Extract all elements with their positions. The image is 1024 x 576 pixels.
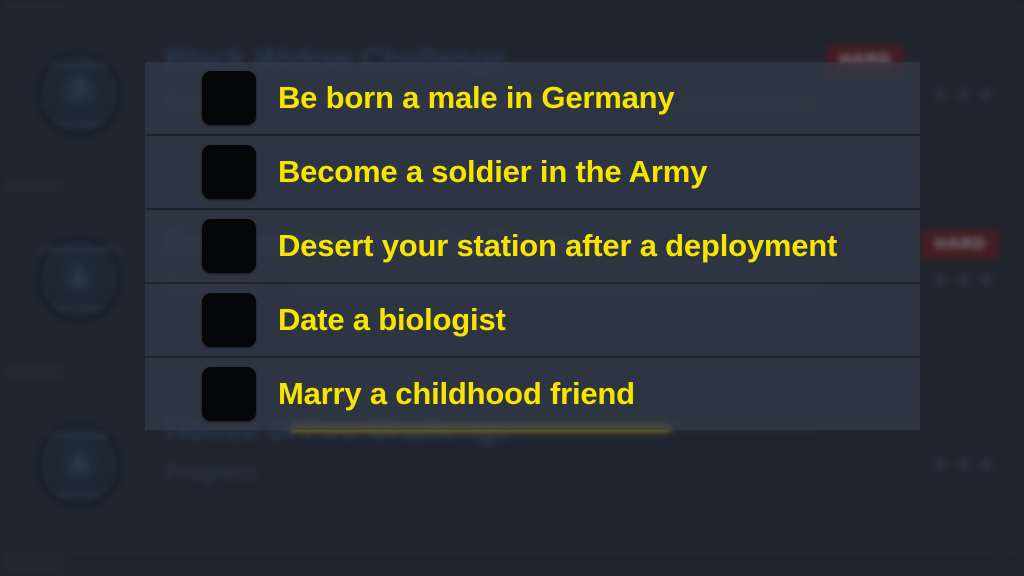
dot [935, 89, 946, 100]
dot [981, 460, 992, 471]
difficulty-badge: HARD [921, 229, 999, 260]
torch-icon: ♟ [66, 448, 93, 478]
emblem-arc-top-label: SUPERCENTENARIAN [34, 247, 124, 254]
task-list-overlay: Be born a male in Germany Become a soldi… [145, 62, 920, 430]
more-horizontal-icon[interactable] [935, 460, 992, 471]
app-root: BLACK WIDOW 🕷 CHALLENGE Black Widow Chal… [0, 0, 1024, 576]
task-label: Become a soldier in the Army [278, 154, 707, 190]
dot [981, 89, 992, 100]
challenge-emblem: SUPERCENTENARIAN ♟ CHALLENGE [32, 232, 126, 326]
dot [958, 460, 969, 471]
dot [935, 274, 946, 285]
task-row[interactable]: Be born a male in Germany [145, 62, 920, 136]
dot [935, 460, 946, 471]
emblem-arc-top-label: HOUSE OF FIRE [34, 433, 124, 440]
task-label: Desert your station after a deployment [278, 228, 837, 264]
task-checkbox[interactable] [202, 367, 256, 421]
task-row[interactable]: Date a biologist [145, 284, 920, 358]
progress-label: Progress [165, 459, 257, 486]
dot [958, 274, 969, 285]
task-checkbox[interactable] [202, 145, 256, 199]
task-checkbox[interactable] [202, 293, 256, 347]
emblem-arc-bottom-label: CHALLENGE [34, 306, 124, 313]
person-icon: ♟ [66, 262, 93, 292]
spider-icon: 🕷 [60, 77, 98, 107]
emblem-arc-bottom-label: CHALLENGE [34, 492, 124, 499]
task-checkbox[interactable] [202, 71, 256, 125]
dot [981, 274, 992, 285]
task-label: Marry a childhood friend [278, 376, 635, 412]
challenge-emblem: BLACK WIDOW 🕷 CHALLENGE [32, 47, 126, 141]
challenge-emblem: HOUSE OF FIRE ♟ CHALLENGE [32, 418, 126, 512]
more-horizontal-icon[interactable] [935, 89, 992, 100]
more-horizontal-icon[interactable] [935, 274, 992, 285]
task-checkbox[interactable] [202, 219, 256, 273]
emblem-arc-bottom-label: CHALLENGE [34, 121, 124, 128]
dot [958, 89, 969, 100]
task-row[interactable]: Desert your station after a deployment [145, 210, 920, 284]
task-row[interactable]: Marry a childhood friend [145, 358, 920, 430]
task-row[interactable]: Become a soldier in the Army [145, 136, 920, 210]
emblem-arc-top-label: BLACK WIDOW [34, 62, 124, 69]
task-label: Date a biologist [278, 302, 506, 338]
task-label: Be born a male in Germany [278, 80, 674, 116]
